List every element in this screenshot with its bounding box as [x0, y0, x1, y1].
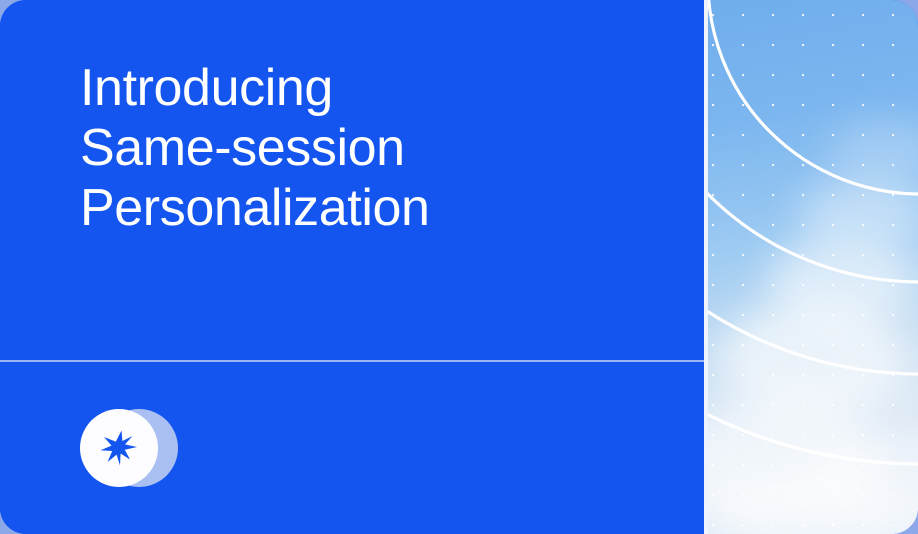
sky-image-panel	[708, 0, 918, 534]
concentric-arcs-overlay	[708, 0, 918, 534]
promo-card: Introducing Same-session Personalization	[0, 0, 918, 534]
sparkle-star-icon	[99, 428, 139, 468]
arc-2	[708, 0, 918, 282]
arc-3	[708, 0, 918, 374]
arc-4	[708, 0, 918, 464]
page-title: Introducing Same-session Personalization	[80, 58, 680, 238]
left-content-panel: Introducing Same-session Personalization	[0, 0, 704, 534]
arc-1	[708, 0, 918, 194]
horizontal-divider	[0, 360, 704, 362]
brand-logo	[80, 409, 178, 489]
